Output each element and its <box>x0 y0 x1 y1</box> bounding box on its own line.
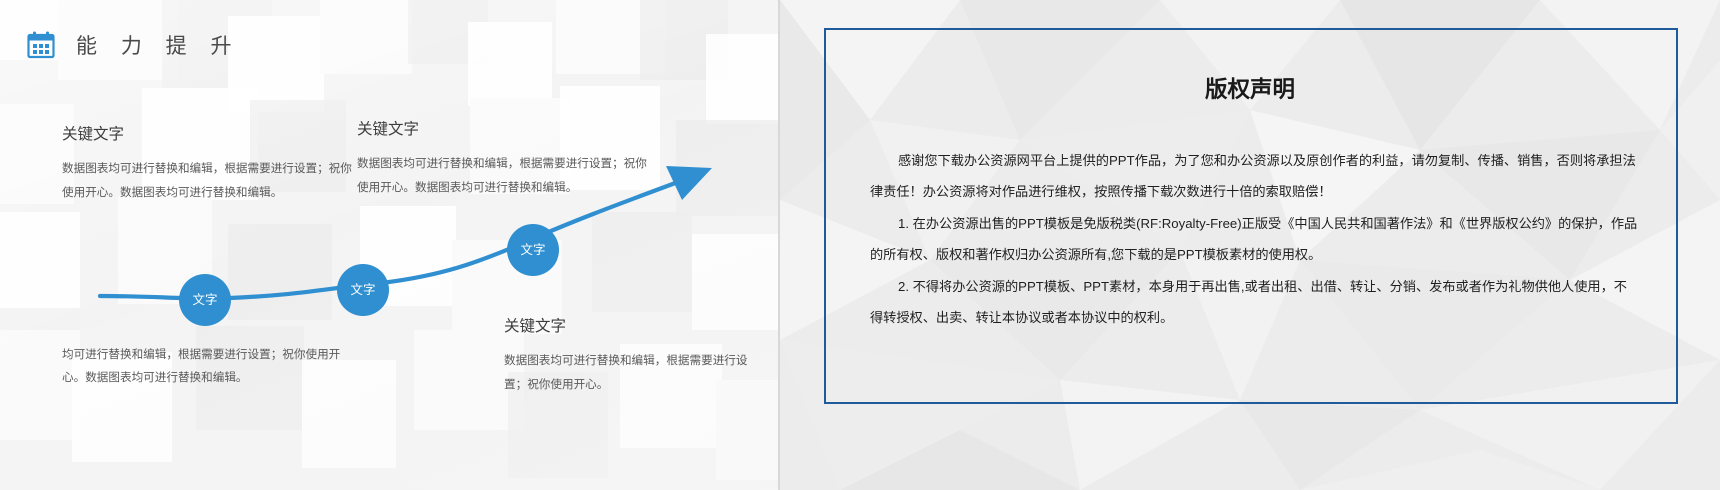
page-title: 能 力 提 升 <box>76 30 241 60</box>
text-block-body: 数据图表均可进行替换和编辑，根据需要进行设置；祝你使用开心。数据图表均可进行替换… <box>62 157 352 205</box>
flow-node-label: 文字 <box>350 283 375 297</box>
page-title-row: 能 力 提 升 <box>24 28 241 62</box>
slide-divider <box>778 0 780 490</box>
copyright-body: 感谢您下载办公资源网平台上提供的PPT作品，为了您和办公资源以及原创作者的利益，… <box>870 145 1638 334</box>
text-block-heading: 关键文字 <box>62 122 352 144</box>
text-block-body: 均可进行替换和编辑，根据需要进行设置；祝你使用开心。数据图表均可进行替换和编辑。 <box>62 343 362 389</box>
text-block: 均可进行替换和编辑，根据需要进行设置；祝你使用开心。数据图表均可进行替换和编辑。 <box>62 343 362 389</box>
text-block-body: 数据图表均可进行替换和编辑，根据需要进行设置；祝你使用开心。 <box>504 349 759 397</box>
copyright-paragraph: 2. 不得将办公资源的PPT模板、PPT素材，本身用于再出售,或者出租、出借、转… <box>870 271 1638 334</box>
flow-node[interactable]: 文字 <box>507 224 559 276</box>
flow-node[interactable]: 文字 <box>337 264 389 316</box>
flow-node-label: 文字 <box>520 243 545 257</box>
growth-arrow <box>0 0 780 490</box>
text-block: 关键文字 数据图表均可进行替换和编辑，根据需要进行设置；祝你使用开心。数据图表均… <box>357 117 647 200</box>
text-block-heading: 关键文字 <box>357 117 647 139</box>
copyright-paragraph: 1. 在办公资源出售的PPT模板是免版税类(RF:Royalty-Free)正版… <box>870 208 1638 271</box>
flow-node[interactable]: 文字 <box>179 274 231 326</box>
text-block: 关键文字 数据图表均可进行替换和编辑，根据需要进行设置；祝你使用开心。 <box>504 314 759 397</box>
calendar-icon <box>24 28 58 62</box>
copyright-title: 版权声明 <box>780 72 1720 104</box>
text-block: 关键文字 数据图表均可进行替换和编辑，根据需要进行设置；祝你使用开心。数据图表均… <box>62 122 352 205</box>
text-block-heading: 关键文字 <box>504 314 759 336</box>
right-slide: 版权声明 感谢您下载办公资源网平台上提供的PPT作品，为了您和办公资源以及原创作… <box>780 0 1720 490</box>
left-slide: 能 力 提 升 文字 文字 文字 关键文字 数据图表均可进行替换和编辑，根据需要… <box>0 0 780 490</box>
text-block-body: 数据图表均可进行替换和编辑，根据需要进行设置；祝你使用开心。数据图表均可进行替换… <box>357 152 647 200</box>
flow-node-label: 文字 <box>192 293 217 307</box>
copyright-paragraph: 感谢您下载办公资源网平台上提供的PPT作品，为了您和办公资源以及原创作者的利益，… <box>870 145 1638 208</box>
slide-pair-canvas: 能 力 提 升 文字 文字 文字 关键文字 数据图表均可进行替换和编辑，根据需要… <box>0 0 1720 490</box>
